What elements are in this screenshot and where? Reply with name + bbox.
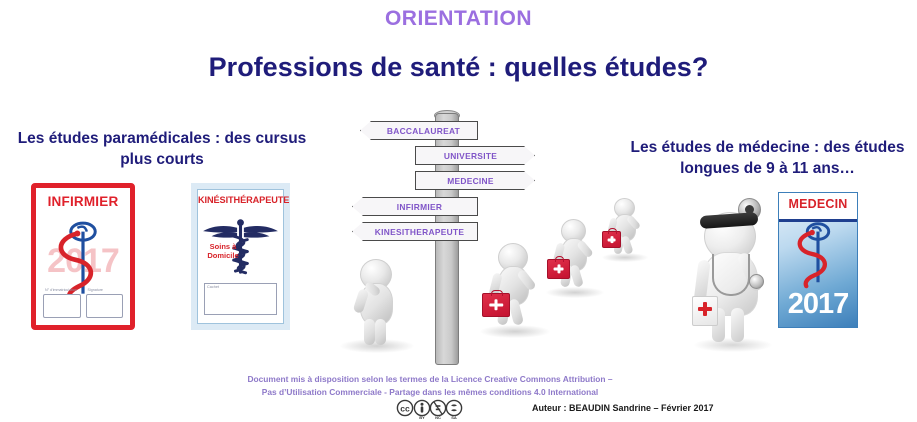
stethoscope-icon <box>712 254 750 296</box>
slide-canvas: ORIENTATION Professions de santé : quell… <box>0 0 917 422</box>
sign-infirmier[interactable]: INFIRMIER <box>352 197 478 216</box>
cc-license-icon: cc BY NC SA <box>394 399 484 419</box>
svg-text:NC: NC <box>435 415 441 419</box>
field-immatriculation-label: N° d'immatriculation <box>45 288 77 292</box>
creative-commons-badge[interactable]: cc BY NC SA <box>394 399 484 419</box>
poster-infirmier-fields: N° d'immatriculation Signature <box>43 294 123 318</box>
figure-leg <box>364 319 375 345</box>
svg-text:SA: SA <box>451 415 457 419</box>
license-text: Document mis à disposition selon les ter… <box>170 373 690 398</box>
poster-medecin-title: MEDECIN <box>779 197 857 211</box>
field-cachet-label: Cachet <box>207 285 219 289</box>
right-caption: Les études de médecine : des études long… <box>620 138 915 180</box>
slide-kicker: ORIENTATION <box>0 7 917 31</box>
license-line-2: Pas d’Utilisation Commerciale - Partage … <box>170 386 690 399</box>
field-cachet[interactable]: Cachet <box>204 283 277 315</box>
case-handle <box>608 228 616 234</box>
poster-infirmier: INFIRMIER 2017 N° d'immatriculation Sign… <box>31 183 135 330</box>
poster-medecin-year: 2017 <box>779 288 857 321</box>
medical-bag-icon <box>692 296 718 326</box>
first-aid-case-icon <box>547 259 570 279</box>
figure-doctor <box>686 192 782 352</box>
field-signature-label: Signature <box>88 288 103 292</box>
svg-text:cc: cc <box>400 404 410 414</box>
case-handle <box>555 256 565 262</box>
figure-shadow <box>602 253 648 262</box>
signpost: BACCALAUREAT UNIVERSITE MEDECINE INFIRMI… <box>330 105 590 365</box>
author-credit: Auteur : BEAUDIN Sandrine – Février 2017 <box>532 403 714 413</box>
caduceus-icon <box>779 217 857 289</box>
poster-kinesitherapeute-subtitle: Soins à Domicile <box>204 242 242 261</box>
poster-kinesitherapeute: KINÉSITHÉRAPEUTE <box>191 183 290 330</box>
figure-thinking-person <box>344 255 414 355</box>
field-signature[interactable]: Signature <box>86 294 124 318</box>
figure-shadow <box>480 325 550 338</box>
figure-leg <box>731 308 744 342</box>
figure-leg <box>375 319 386 345</box>
sign-kinesitherapeute[interactable]: KINESITHERAPEUTE <box>352 222 478 241</box>
sign-medecine[interactable]: MEDECINE <box>415 171 535 190</box>
license-line-1: Document mis à disposition selon les ter… <box>170 373 690 386</box>
figure-walking-nurse-1 <box>480 241 552 341</box>
first-aid-case-icon <box>602 231 621 248</box>
figure-walking-nurse-3 <box>602 197 650 265</box>
left-caption: Les études paramédicales : des cursus pl… <box>12 129 312 171</box>
poster-infirmier-title: INFIRMIER <box>39 194 127 209</box>
sign-universite[interactable]: UNIVERSITE <box>415 146 535 165</box>
field-immatriculation[interactable]: N° d'immatriculation <box>43 294 81 318</box>
svg-text:BY: BY <box>419 415 425 419</box>
poster-kinesitherapeute-title: KINÉSITHÉRAPEUTE <box>198 195 283 205</box>
stethoscope-bell-icon <box>749 274 764 289</box>
figure-walking-nurse-2 <box>546 217 606 301</box>
page-title: Professions de santé : quelles études? <box>0 52 917 83</box>
sign-baccalaureat[interactable]: BACCALAUREAT <box>360 121 478 140</box>
first-aid-case-icon <box>482 293 510 317</box>
poster-kinesitherapeute-inner: KINÉSITHÉRAPEUTE <box>197 189 284 324</box>
figure-shadow <box>546 287 604 298</box>
poster-medecin: MEDECIN 2017 <box>778 192 858 328</box>
case-handle <box>491 290 502 296</box>
